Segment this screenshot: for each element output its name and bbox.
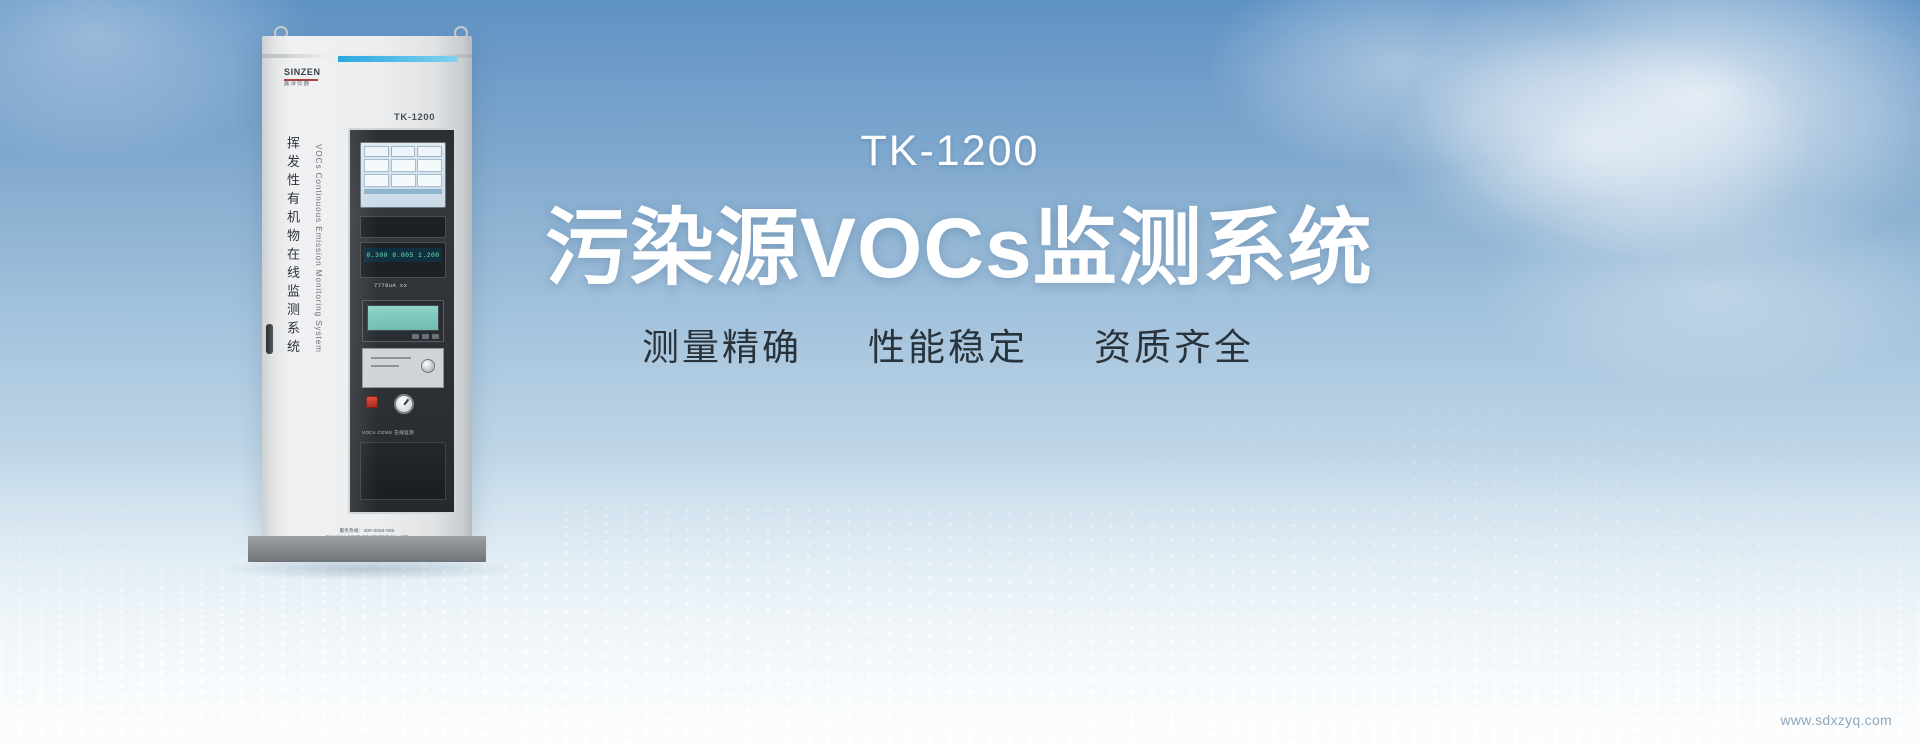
lcd-button — [412, 334, 419, 339]
hmi-cell — [391, 146, 416, 157]
valve-module — [362, 348, 444, 388]
cloud-decoration — [1390, 30, 1810, 260]
lcd-controller-module — [362, 300, 444, 342]
hmi-touchscreen — [360, 142, 446, 208]
hmi-box — [364, 174, 389, 187]
accent-stripe — [338, 56, 458, 62]
hmi-box — [364, 159, 389, 172]
cabinet-vertical-text-cn: 挥发性有机物在线监测系统 — [286, 136, 299, 358]
hmi-box — [391, 174, 416, 187]
tubing-line — [371, 365, 399, 367]
cabinet-vertical-text-en: VOCs Continuous Emission Monitoring Syst… — [314, 144, 322, 353]
emergency-stop-button — [366, 396, 378, 408]
cabinet-glass-door: 0.300 8.005 1.200 7778uA xx — [348, 128, 456, 514]
ground-shadow — [222, 558, 514, 580]
lcd-screen — [367, 305, 439, 331]
cabinet-model-plate: TK-1200 — [394, 112, 435, 123]
hmi-box — [417, 159, 442, 172]
banner-copy: TK-1200 污染源VOCs监测系统 测量精确 性能稳定 资质齐全 — [545, 130, 1345, 366]
hmi-box — [391, 159, 416, 172]
analyzer-sub-readout: 7778uA xx — [374, 282, 407, 289]
hmi-value-grid — [364, 159, 442, 187]
feature-item: 性能稳定 — [868, 329, 1028, 366]
lcd-button — [432, 334, 439, 339]
brand-name-cn: 鑫泽仪器 — [284, 82, 354, 88]
lcd-button-row — [367, 334, 439, 339]
product-image: SINZEN 鑫泽仪器 TK-1200 挥发性有机物在线监测系统 VOCs Co… — [262, 18, 482, 578]
headline: 污染源VOCs监测系统 — [545, 201, 1345, 295]
cloud-decoration — [1480, 190, 1920, 390]
tubing-line — [371, 357, 411, 359]
feature-list: 测量精确 性能稳定 资质齐全 — [545, 329, 1345, 366]
cloud-decoration — [1420, 0, 1920, 260]
feature-item: 测量精确 — [642, 329, 802, 366]
instrument-panel — [360, 216, 446, 238]
hmi-box — [417, 174, 442, 187]
hmi-cell — [364, 146, 389, 157]
analyzer-readout: 0.300 8.005 1.200 — [364, 248, 442, 262]
watermark-url: www.sdxzyq.com — [1780, 712, 1892, 728]
hmi-chart-bar — [364, 189, 442, 194]
cabinet-body: SINZEN 鑫泽仪器 TK-1200 挥发性有机物在线监测系统 VOCs Co… — [262, 36, 472, 536]
brand-logo: SINZEN 鑫泽仪器 — [284, 68, 354, 88]
regulator-knob-icon — [421, 359, 435, 373]
feature-item: 资质齐全 — [1094, 329, 1254, 366]
door-label: VOCs CEMS 在线监测 — [362, 430, 414, 436]
door-handle — [266, 324, 273, 354]
product-banner: SINZEN 鑫泽仪器 TK-1200 挥发性有机物在线监测系统 VOCs Co… — [0, 0, 1920, 744]
lcd-button — [422, 334, 429, 339]
hmi-cell — [417, 146, 442, 157]
hmi-header-row — [364, 146, 442, 157]
model-label: TK-1200 — [545, 130, 1345, 173]
pressure-gauge-icon — [394, 394, 414, 414]
brand-name: SINZEN — [284, 68, 354, 77]
lower-equipment-bay — [360, 442, 446, 500]
